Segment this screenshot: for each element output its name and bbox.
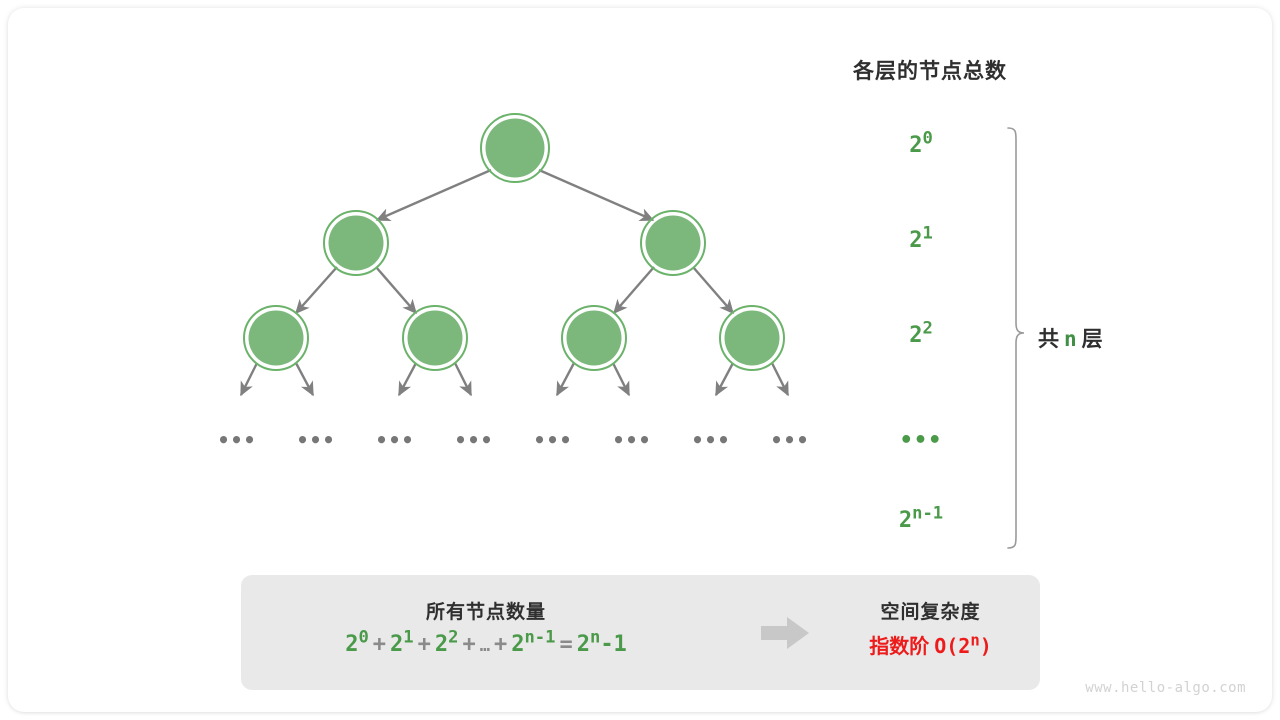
diagram-stage: 各层的节点总数 20 21 22 ••• 2n-1 共n层 ••• ••• ••… [8,8,1272,712]
summary-right-title: 空间复杂度 [821,597,1040,624]
leaf-dots-7: ••• [770,428,810,452]
formula-plus-2: + [458,632,479,657]
tree-node-l2-3 [720,306,784,370]
diagram-canvas: 各层的节点总数 20 21 22 ••• 2n-1 共n层 ••• ••• ••… [8,8,1272,712]
formula-term-0: 20 [345,632,369,657]
tree-nodes [244,114,784,370]
level-label-ellipsis: ••• [861,428,981,453]
complexity-order: 指数阶 [869,636,929,658]
level-label-last: 2n-1 [861,508,981,533]
formula-plus-3: + [490,632,511,657]
formula-result: 2n-1 [577,632,627,657]
total-layers-prefix: 共 [1038,328,1059,351]
layers-bracket [1008,128,1024,548]
formula-ellipsis: … [480,636,490,656]
total-layers-label: 共n层 [1038,323,1238,353]
leaf-dots-4: ••• [533,428,573,452]
tree-node-root [481,114,549,182]
summary-right: 空间复杂度 指数阶O(2n) [821,575,1040,690]
level-label-0: 20 [861,133,981,158]
formula-equals: = [555,632,576,657]
level-label-2: 22 [861,323,981,348]
formula-plus-1: + [414,632,435,657]
level-label-1: 21 [861,228,981,253]
summary-formula: 20+21+22+…+2n-1=2n-1 [241,632,731,657]
leaf-dots-2: ••• [375,428,415,452]
tree-node-l2-2 [562,306,626,370]
right-arrow-icon [759,615,811,651]
formula-term-2: 22 [435,632,459,657]
leaf-dots-3: ••• [454,428,494,452]
summary-left: 所有节点数量 20+21+22+…+2n-1=2n-1 [241,575,731,690]
formula-term-last: 2n-1 [511,632,555,657]
column-title: 各层的节点总数 [790,55,1070,85]
complexity-value: 指数阶O(2n) [821,630,1040,659]
tree-edges [241,170,788,395]
total-layers-var: n [1059,327,1082,351]
summary-left-title: 所有节点数量 [241,597,731,624]
leaf-dots-0: ••• [217,428,257,452]
formula-term-1: 21 [390,632,414,657]
leaf-dots-6: ••• [691,428,731,452]
watermark: www.hello-algo.com [1085,680,1246,696]
tree-node-l1-0 [324,211,388,275]
tree-node-l1-1 [641,211,705,275]
tree-node-l2-0 [244,306,308,370]
total-layers-suffix: 层 [1082,328,1103,351]
tree-node-l2-1 [403,306,467,370]
leaf-dots-5: ••• [612,428,652,452]
leaf-dots-1: ••• [296,428,336,452]
complexity-notation: O(2n) [929,634,992,658]
summary-box: 所有节点数量 20+21+22+…+2n-1=2n-1 空间复杂度 指数阶O(2… [241,575,1040,690]
formula-plus-0: + [369,632,390,657]
